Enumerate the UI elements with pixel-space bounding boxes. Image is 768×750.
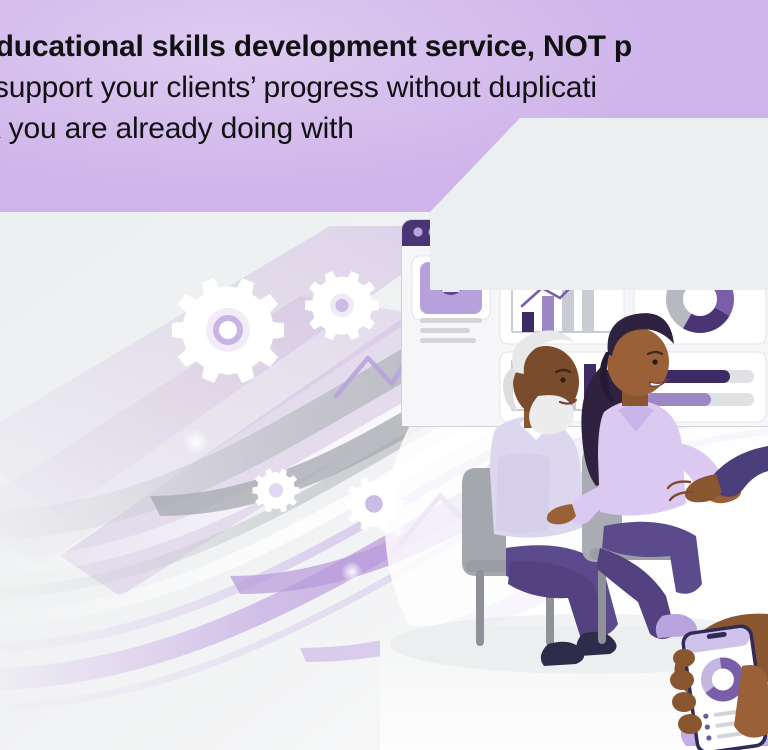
headline-line-3: work you are already doing with <box>0 108 768 149</box>
headline-text-block: an educational skills development servic… <box>0 26 768 149</box>
headline-line-2: can support your clients’ progress witho… <box>0 67 768 108</box>
headline-line-1-bold: educational skills development service, … <box>0 30 632 63</box>
headline-line-1: an educational skills development servic… <box>0 26 768 67</box>
window-dot-1 <box>413 227 422 236</box>
banner-graphic-root: an educational skills development servic… <box>0 0 768 750</box>
progress-bar-2 <box>646 393 711 406</box>
bar-2 <box>542 296 554 332</box>
bar-1 <box>522 312 534 332</box>
